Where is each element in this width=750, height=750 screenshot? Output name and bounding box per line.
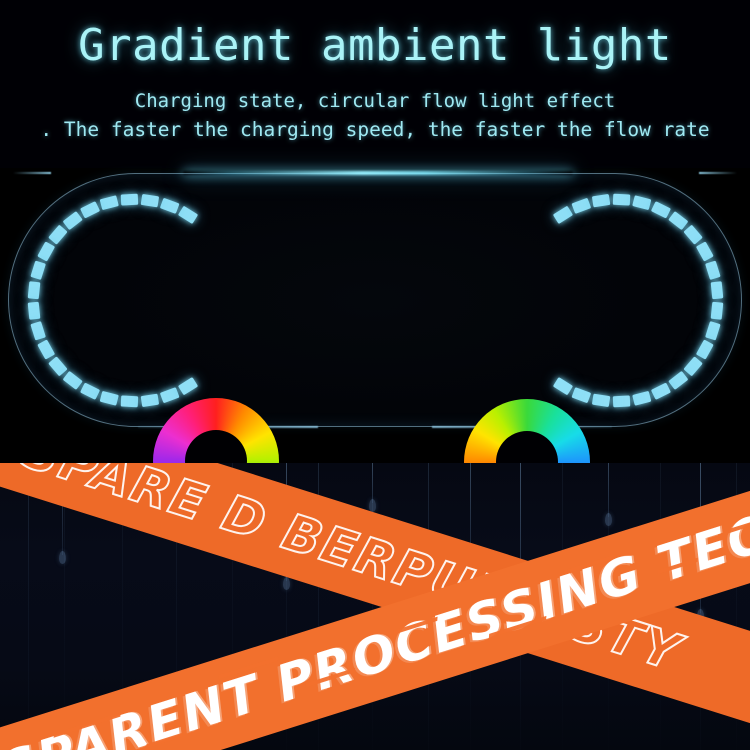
flow-dash [668,370,688,389]
flow-dash [177,205,197,223]
flow-dash [159,197,179,213]
flow-dash [571,387,591,403]
hanging-pendant [470,463,471,551]
flow-dash [552,205,572,223]
flow-dash [650,201,670,218]
flow-dash [80,201,100,218]
flow-dash [27,281,40,299]
flow-dash [30,260,46,280]
flow-dash [140,193,158,206]
flow-dash [650,382,670,399]
hanging-pendant [372,463,373,503]
flow-dash [571,197,591,213]
flow-dash [683,224,702,244]
flow-dash [62,370,82,389]
flow-dash [120,395,138,407]
flow-dash [705,320,721,340]
flow-dash [710,281,723,299]
flow-dash [177,376,197,394]
flow-dash [48,224,67,244]
flow-dash [80,382,100,399]
flow-dash [37,339,55,359]
subtitle-line-2: . The faster the charging speed, the fas… [0,117,750,143]
flow-dash [37,241,55,261]
flow-dash [632,195,651,210]
background-vertical-line [28,463,29,750]
flow-dash [120,193,138,205]
page-title: Gradient ambient light [0,18,750,74]
flow-dash [62,211,82,230]
flow-dash [30,320,46,340]
flow-dash [695,241,713,261]
header-section: Gradient ambient light Charging state, c… [0,0,750,168]
flow-dash [710,301,723,319]
flow-dash [140,393,158,406]
flow-dash [99,195,118,210]
ambient-light-panel: Colorful ambient light with illuminated … [8,173,742,427]
flow-dash [632,390,651,405]
flow-dash [552,376,572,394]
subtitle-line-1: Charging state, circular flow light effe… [0,88,750,114]
flow-light-arc-left [7,173,261,427]
flow-dash [27,301,40,319]
flow-dash [612,395,630,407]
flow-dash [591,393,609,406]
flow-dash [48,356,67,376]
flow-dash [99,390,118,405]
flow-dash [705,260,721,280]
flow-dash [668,211,688,230]
cyberpunk-banner-section: TRAN SPARE D BERPUNK STY TRANSPARENT PRO… [0,463,750,750]
flow-dash [683,356,702,376]
flow-light-arc-right [489,173,743,427]
flow-dash [159,387,179,403]
flow-dash [695,339,713,359]
hanging-pendant [608,463,609,517]
flow-dash [591,193,609,206]
flow-dash [612,193,630,205]
